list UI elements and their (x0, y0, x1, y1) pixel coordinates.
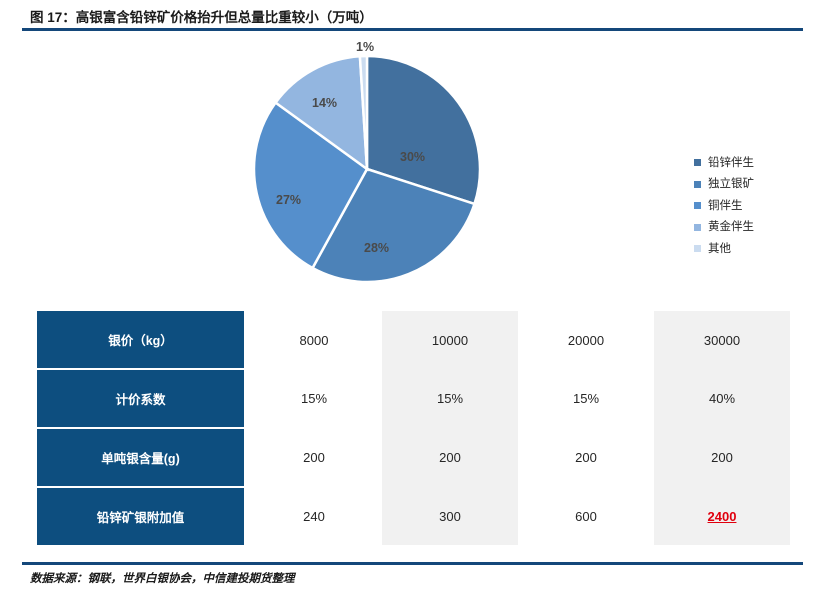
assumptions-table: 银价（kg） 8000 10000 20000 30000 计价系数 15% 1… (37, 311, 791, 545)
pie-label-1: 28% (364, 241, 389, 255)
pie-chart-area: 30% 28% 27% 14% 1% 铅锌伴生 独立银矿 铜伴生 黄金伴生 其他 (0, 36, 825, 298)
footer-divider (22, 562, 803, 565)
table-cell: 200 (245, 428, 382, 487)
legend-swatch-icon (694, 224, 701, 231)
table-cell: 15% (382, 369, 518, 428)
table-cell: 30000 (654, 311, 790, 369)
legend-item-3: 黄金伴生 (694, 217, 804, 239)
table-cell: 10000 (382, 311, 518, 369)
chart-legend: 铅锌伴生 独立银矿 铜伴生 黄金伴生 其他 (694, 152, 804, 260)
table-cell: 20000 (518, 311, 654, 369)
table-cell: 8000 (245, 311, 382, 369)
table-cell: 240 (245, 487, 382, 545)
legend-item-0: 铅锌伴生 (694, 152, 804, 174)
legend-label: 铜伴生 (708, 200, 743, 212)
legend-swatch-icon (694, 202, 701, 209)
title-divider (22, 28, 803, 31)
table-row: 单吨银含量(g) 200 200 200 200 (37, 428, 790, 487)
row-header-label: 铅锌矿银附加值 (37, 487, 245, 545)
table-cell: 15% (245, 369, 382, 428)
table-cell: 200 (518, 428, 654, 487)
legend-swatch-icon (694, 181, 701, 188)
table-cell: 200 (654, 428, 790, 487)
legend-label: 其他 (708, 243, 731, 255)
pie-label-2: 27% (276, 193, 301, 207)
page-title: 图 17：高银富含铅锌矿价格抬升但总量比重较小（万吨） (30, 8, 795, 28)
table-cell: 15% (518, 369, 654, 428)
pie-label-4: 1% (356, 40, 374, 54)
table-cell-highlighted: 2400 (654, 487, 790, 545)
legend-label: 铅锌伴生 (708, 157, 754, 169)
legend-item-4: 其他 (694, 238, 804, 260)
table-row: 铅锌矿银附加值 240 300 600 2400 (37, 487, 790, 545)
source-note: 数据来源：钢联，世界白银协会，中信建投期货整理 (30, 570, 295, 586)
table-row: 计价系数 15% 15% 15% 40% (37, 369, 790, 428)
pie-chart: 30% 28% 27% 14% 1% (252, 54, 482, 284)
table-cell: 200 (382, 428, 518, 487)
row-header-label: 单吨银含量(g) (37, 428, 245, 487)
pie-label-3: 14% (312, 96, 337, 110)
row-header-label: 银价（kg） (37, 311, 245, 369)
legend-swatch-icon (694, 245, 701, 252)
legend-label: 黄金伴生 (708, 221, 754, 233)
legend-item-1: 独立银矿 (694, 174, 804, 196)
table-cell: 300 (382, 487, 518, 545)
row-header-label: 计价系数 (37, 369, 245, 428)
legend-swatch-icon (694, 159, 701, 166)
table-cell: 600 (518, 487, 654, 545)
legend-label: 独立银矿 (708, 178, 754, 190)
table-row: 银价（kg） 8000 10000 20000 30000 (37, 311, 790, 369)
legend-item-2: 铜伴生 (694, 195, 804, 217)
pie-label-0: 30% (400, 150, 425, 164)
table-cell: 40% (654, 369, 790, 428)
